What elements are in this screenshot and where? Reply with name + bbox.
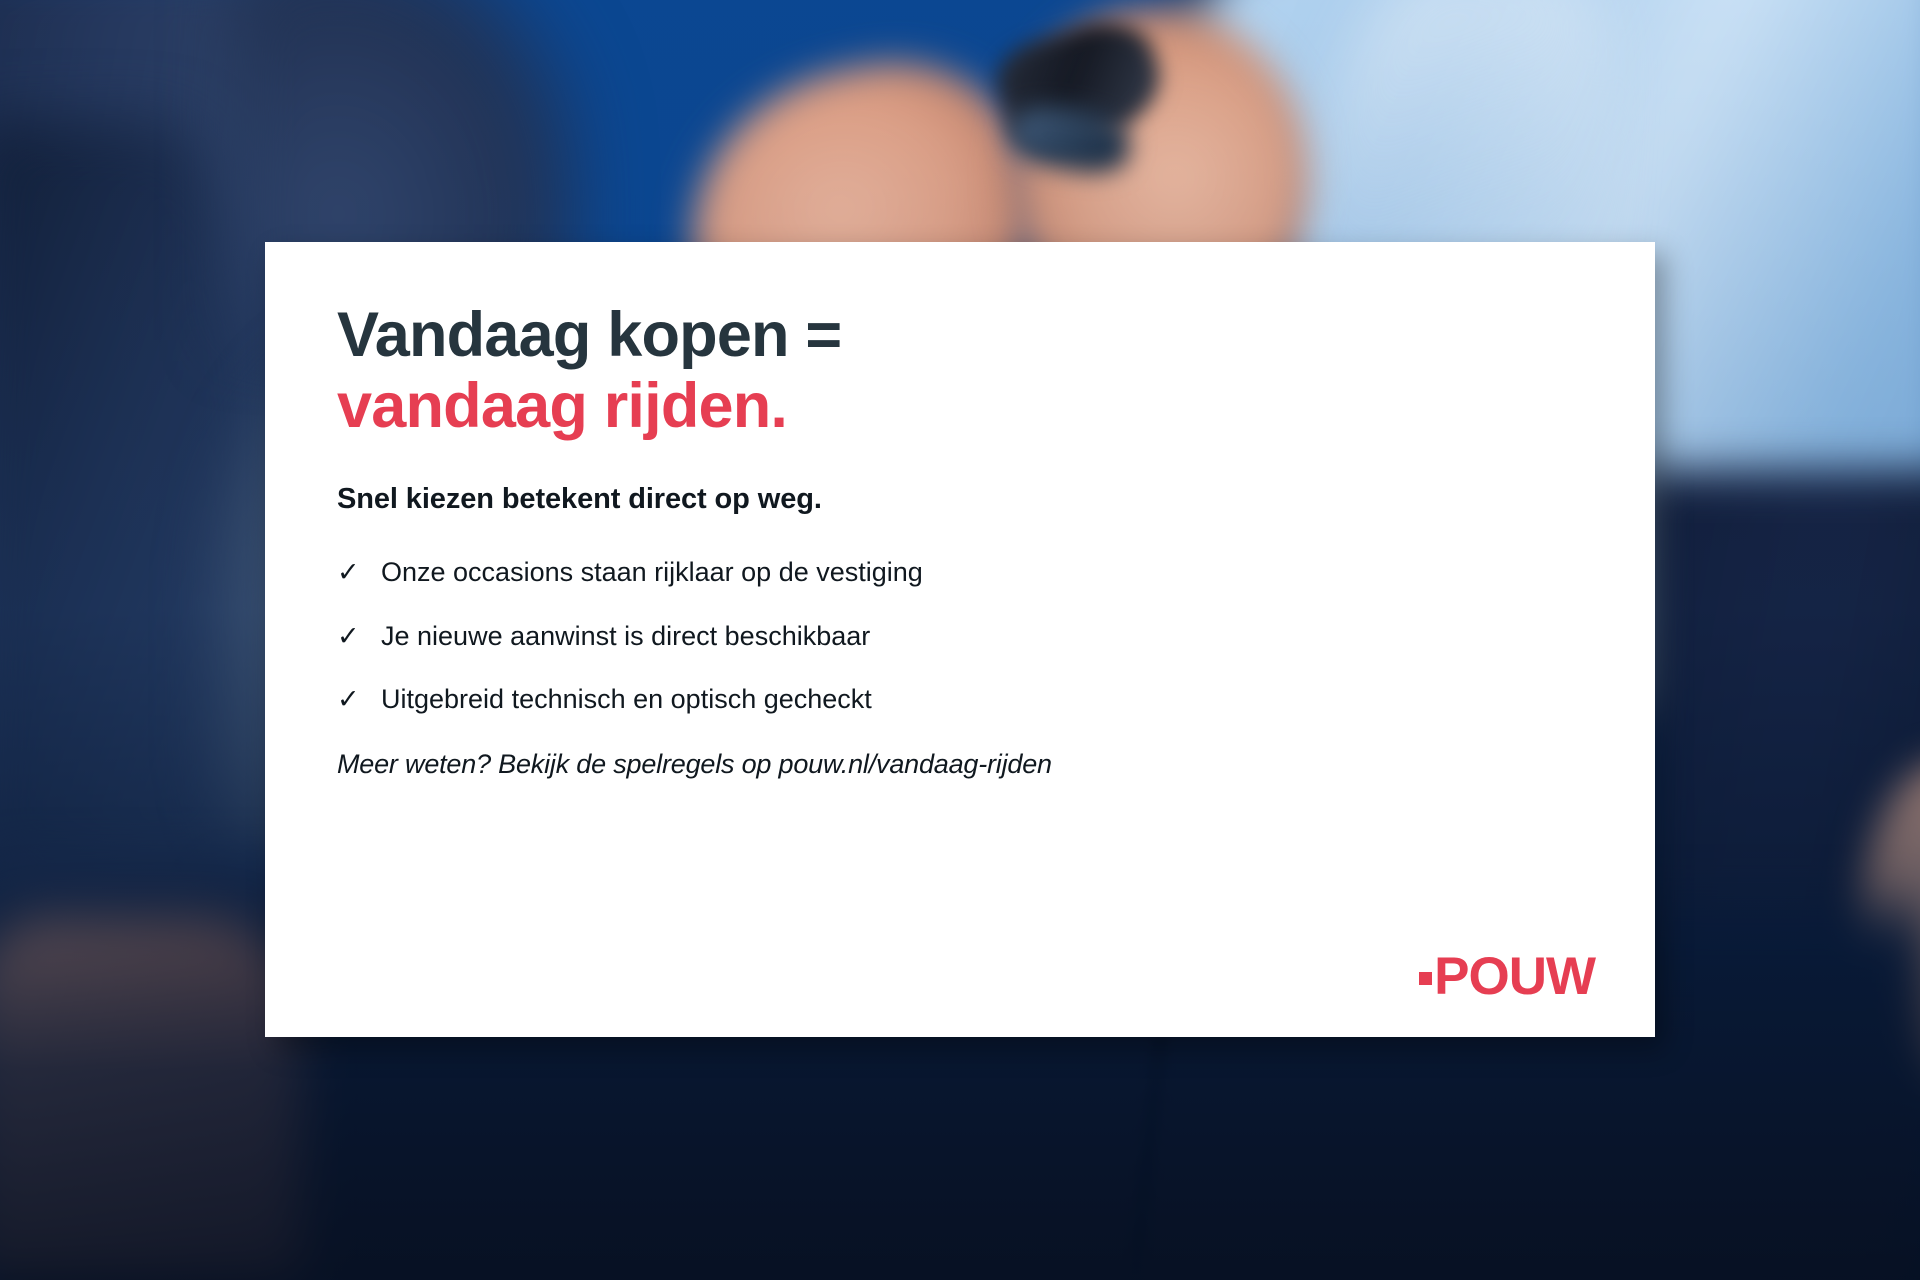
subheadline: Snel kiezen betekent direct op weg.: [337, 483, 1583, 516]
benefits-list: ✓ Onze occasions staan rijklaar op de ve…: [337, 558, 1583, 715]
check-icon: ✓: [337, 622, 381, 652]
list-item-label: Je nieuwe aanwinst is direct beschikbaar: [381, 622, 870, 652]
list-item: ✓ Onze occasions staan rijklaar op de ve…: [337, 558, 1583, 588]
check-icon: ✓: [337, 685, 381, 715]
list-item-label: Onze occasions staan rijklaar op de vest…: [381, 558, 923, 588]
pouw-logo[interactable]: POUW: [1419, 950, 1595, 1003]
headline-line-1: Vandaag kopen =: [337, 300, 841, 370]
promo-card: Vandaag kopen = vandaag rijden. Snel kie…: [265, 242, 1655, 1037]
promo-card-content: Vandaag kopen = vandaag rijden. Snel kie…: [265, 242, 1655, 1037]
footnote-link-text[interactable]: Meer weten? Bekijk de spelregels op pouw…: [337, 749, 1583, 780]
list-item: ✓ Uitgebreid technisch en optisch gechec…: [337, 685, 1583, 715]
logo-wordmark: POUW: [1434, 950, 1595, 1003]
headline-line-2: vandaag rijden.: [337, 371, 1583, 442]
list-item-label: Uitgebreid technisch en optisch gecheckt: [381, 685, 872, 715]
page-title: Vandaag kopen = vandaag rijden.: [337, 300, 1583, 441]
list-item: ✓ Je nieuwe aanwinst is direct beschikba…: [337, 622, 1583, 652]
check-icon: ✓: [337, 558, 381, 588]
logo-dot-icon: [1419, 972, 1432, 985]
